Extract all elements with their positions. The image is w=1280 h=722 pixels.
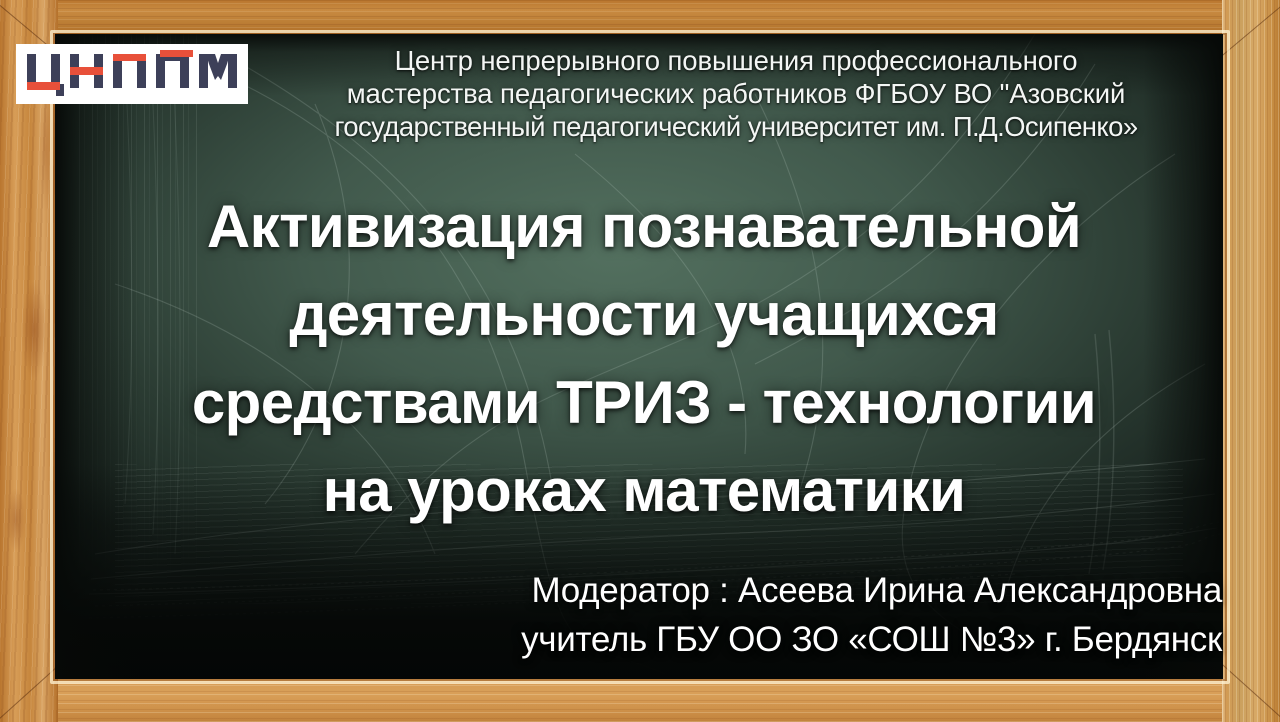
cnppm-logo-accent-bar xyxy=(160,50,193,57)
moderator-affiliation: учитель ГБУ ОО ЗО «СОШ №3» г. Бердянск xyxy=(521,615,1222,664)
organization-line-2: мастерства педагогических работников ФГБ… xyxy=(347,77,1126,110)
moderator-name: Модератор : Асеева Ирина Александровна xyxy=(532,566,1222,615)
slide-title-line-2: деятельности учащихся xyxy=(289,271,998,359)
organization-line-3: государственный педагогический университ… xyxy=(334,110,1137,143)
slide-title: Активизация познавательной деятельности … xyxy=(60,183,1228,535)
cnppm-logo xyxy=(16,44,248,104)
presentation-slide: Центр непрерывного повышения профессиона… xyxy=(0,0,1280,722)
moderator-credits: Модератор : Асеева Ирина Александровна у… xyxy=(60,566,1222,664)
slide-title-line-4: на уроках математики xyxy=(323,447,966,535)
organization-name: Центр непрерывного повышения профессиона… xyxy=(246,44,1226,143)
slide-title-line-1: Активизация познавательной xyxy=(207,183,1081,271)
cnppm-logo-icon xyxy=(25,50,239,98)
frame-jamb-right xyxy=(1222,0,1280,722)
organization-line-1: Центр непрерывного повышения профессиона… xyxy=(395,44,1078,77)
slide-title-line-3: средствами ТРИЗ - технологии xyxy=(192,359,1096,447)
